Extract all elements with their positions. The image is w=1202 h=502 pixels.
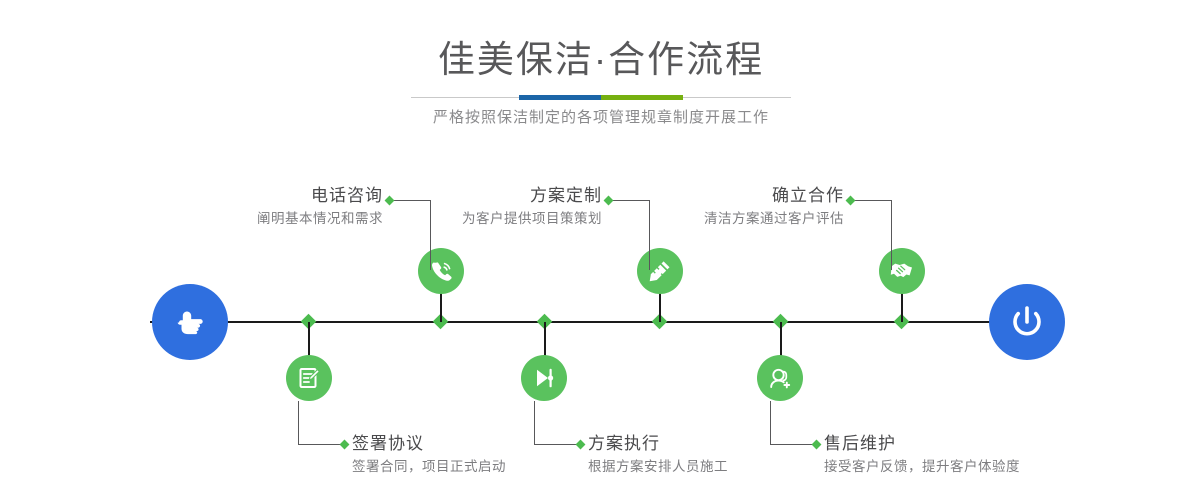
step-desc-3: 为客户提供项目策策划 (462, 208, 602, 230)
label-connector-h-6 (770, 444, 816, 445)
step-title-5: 确立合作 (704, 184, 844, 208)
step-node-6[interactable] (757, 355, 803, 401)
label-tip-2 (340, 440, 350, 450)
timeline-axis (150, 321, 1052, 323)
step-label-1: 电话咨询 阐明基本情况和需求 (257, 184, 383, 230)
step-desc-5: 清洁方案通过客户评估 (704, 208, 844, 230)
step-title-6: 售后维护 (824, 432, 1020, 456)
label-tip-4 (576, 440, 586, 450)
title-divider (411, 95, 791, 100)
step-node-4[interactable] (521, 355, 567, 401)
step-desc-6: 接受客户反馈，提升客户体验度 (824, 456, 1020, 478)
label-connector-h-1 (389, 200, 430, 201)
process-timeline: 电话咨询 阐明基本情况和需求 签署协议 签署合同，项目正式启动 (0, 150, 1202, 502)
label-connector-v-3 (649, 200, 650, 270)
label-tip-1 (385, 196, 395, 206)
timeline-end-badge (989, 284, 1065, 360)
step-node-1[interactable] (418, 248, 464, 294)
label-tip-3 (604, 196, 614, 206)
step-node-3[interactable] (637, 248, 683, 294)
step-title-1: 电话咨询 (257, 184, 383, 208)
step-label-5: 确立合作 清洁方案通过客户评估 (704, 184, 844, 230)
timeline-start-badge (152, 284, 228, 360)
label-tip-6 (812, 440, 822, 450)
step-title-2: 签署协议 (352, 432, 506, 456)
step-node-5[interactable] (879, 248, 925, 294)
step-node-2[interactable] (286, 355, 332, 401)
step-title-3: 方案定制 (462, 184, 602, 208)
label-connector-v-6 (770, 401, 771, 444)
step-label-3: 方案定制 为客户提供项目策策划 (462, 184, 602, 230)
page-header: 佳美保洁·合作流程 严格按照保洁制定的各项管理规章制度开展工作 (0, 0, 1202, 140)
label-connector-h-3 (608, 200, 649, 201)
step-label-2: 签署协议 签署合同，项目正式启动 (352, 432, 506, 478)
step-desc-4: 根据方案安排人员施工 (588, 456, 728, 478)
page-subtitle: 严格按照保洁制定的各项管理规章制度开展工作 (0, 107, 1202, 129)
label-connector-v-2 (298, 401, 299, 444)
step-label-6: 售后维护 接受客户反馈，提升客户体验度 (824, 432, 1020, 478)
label-connector-v-4 (534, 401, 535, 444)
label-connector-v-5 (891, 200, 892, 270)
step-desc-2: 签署合同，项目正式启动 (352, 456, 506, 478)
step-title-4: 方案执行 (588, 432, 728, 456)
page-title: 佳美保洁·合作流程 (0, 38, 1202, 82)
label-connector-h-4 (534, 444, 580, 445)
divider-segment-green (601, 95, 683, 100)
label-tip-5 (846, 196, 856, 206)
step-desc-1: 阐明基本情况和需求 (257, 208, 383, 230)
step-label-4: 方案执行 根据方案安排人员施工 (588, 432, 728, 478)
label-connector-h-2 (298, 444, 344, 445)
label-connector-h-5 (850, 200, 891, 201)
label-connector-v-1 (430, 200, 431, 270)
divider-segment-blue (519, 95, 601, 100)
